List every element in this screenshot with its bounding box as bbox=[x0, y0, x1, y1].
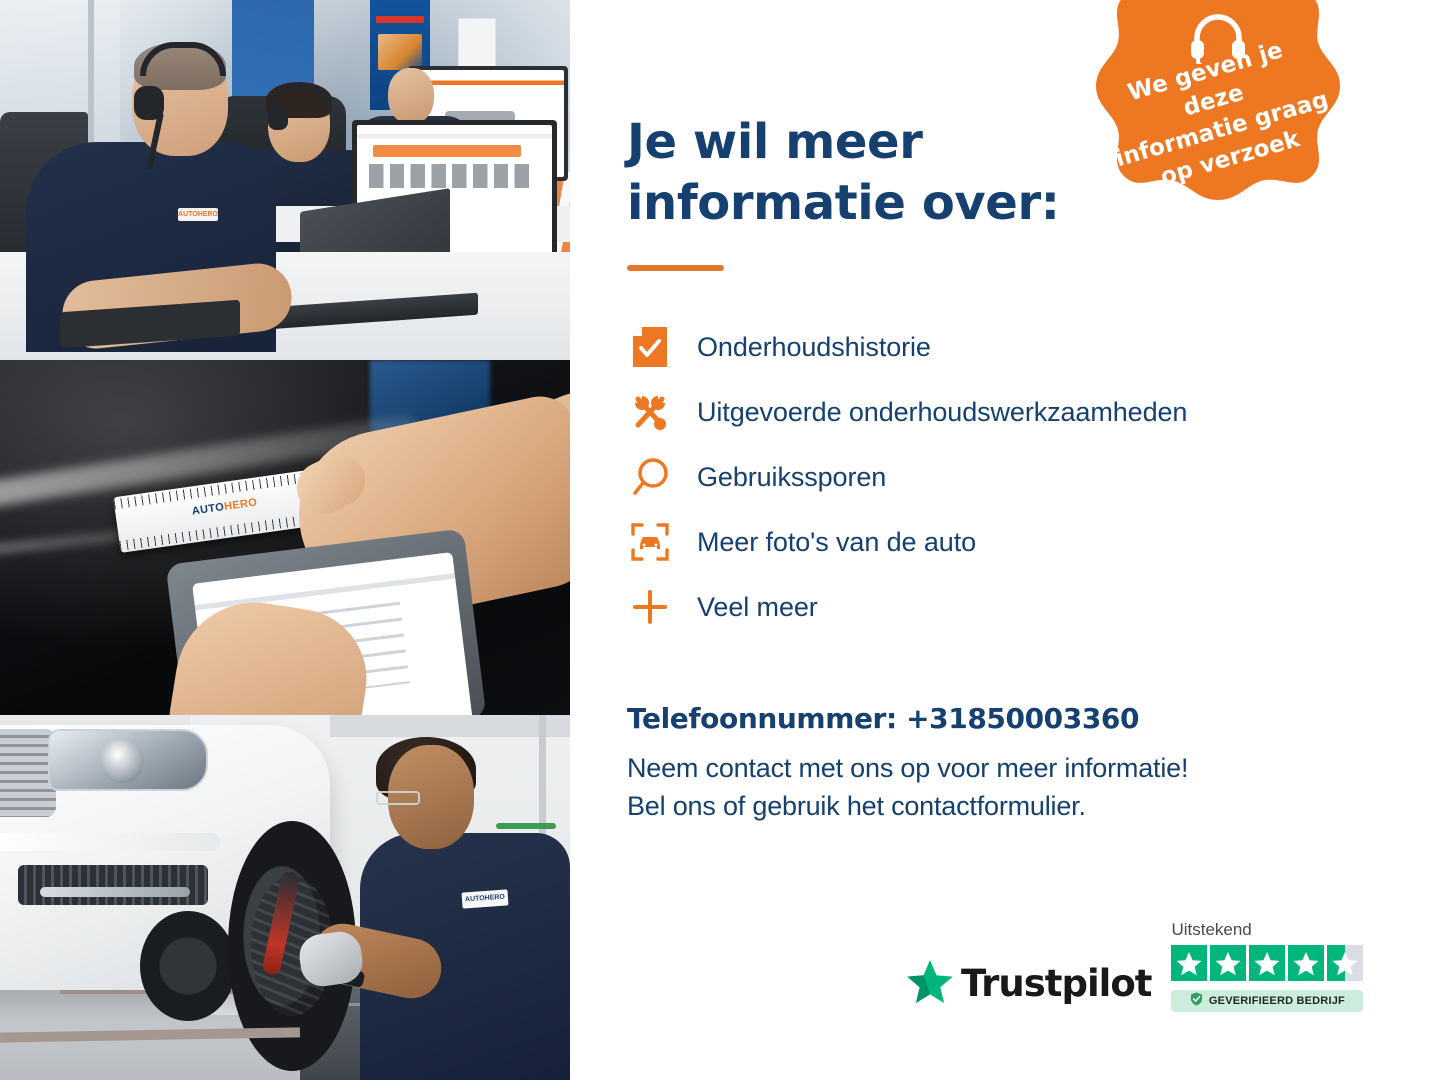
star-filled bbox=[1288, 945, 1324, 981]
feature-item-meer-fotos: Meer foto's van de auto bbox=[627, 510, 1440, 575]
wrench-screwdriver-icon bbox=[627, 389, 673, 435]
star-filled bbox=[1171, 945, 1207, 981]
star-filled bbox=[1249, 945, 1285, 981]
feature-label: Uitgevoerde onderhoudswerkzaamheden bbox=[697, 397, 1187, 428]
promo-page: AUTOHERO AUTOHERO bbox=[0, 0, 1440, 1080]
feature-item-gebruikssporen: Gebruikssporen bbox=[627, 445, 1440, 510]
verified-company-label: GEVERIFIEERD BEDRIJF bbox=[1209, 995, 1345, 1007]
trustpilot-wordmark: Trustpilot bbox=[961, 962, 1151, 1005]
promo-badge: We geven je deze informatie graag op ver… bbox=[1084, 0, 1352, 220]
feature-label: Onderhoudshistorie bbox=[697, 332, 931, 363]
page-title-line-1: Je wil meer bbox=[627, 114, 922, 170]
feature-item-onderhoudshistorie: Onderhoudshistorie bbox=[627, 315, 1440, 380]
call-center-agents-photo: AUTOHERO bbox=[0, 0, 570, 360]
trustpilot-logo[interactable]: Trustpilot bbox=[907, 959, 1151, 1012]
star-half bbox=[1327, 945, 1363, 981]
trustpilot-stars bbox=[1171, 945, 1363, 981]
content-panel: Je wil meer informatie over: Onderhoudsh… bbox=[570, 0, 1440, 1080]
shield-check-icon bbox=[1190, 992, 1203, 1011]
contact-text-line-1: Neem contact met ons op voor meer inform… bbox=[627, 753, 1188, 783]
feature-item-onderhoudswerkzaamheden: Uitgevoerde onderhoudswerkzaamheden bbox=[627, 380, 1440, 445]
trustpilot-rating-label: Uitstekend bbox=[1171, 920, 1251, 940]
feature-item-veel-meer: Veel meer bbox=[627, 575, 1440, 640]
page-title: Je wil meer informatie over: bbox=[627, 112, 1097, 235]
document-check-icon bbox=[627, 324, 673, 370]
trustpilot-rating-block: Uitstekend bbox=[1171, 920, 1363, 1012]
trustpilot-widget[interactable]: Trustpilot Uitstekend bbox=[907, 920, 1363, 1012]
car-inspection-ruler-photo: AUTOHERO bbox=[0, 360, 570, 715]
contact-text-line-2: Bel ons of gebruik het contactformulier. bbox=[627, 791, 1086, 821]
contact-block: Telefoonnummer: +31850003360 Neem contac… bbox=[627, 702, 1440, 826]
plus-icon bbox=[627, 584, 673, 630]
title-divider bbox=[627, 265, 724, 271]
trustpilot-star-icon bbox=[907, 959, 953, 1008]
autohero-polo-logo: AUTOHERO bbox=[461, 889, 508, 908]
contact-text: Neem contact met ons op voor meer inform… bbox=[627, 749, 1440, 826]
star-filled bbox=[1210, 945, 1246, 981]
magnifier-icon bbox=[627, 454, 673, 500]
verified-company-badge: GEVERIFIEERD BEDRIJF bbox=[1171, 990, 1363, 1012]
autohero-polo-logo: AUTOHERO bbox=[178, 208, 218, 221]
feature-list: Onderhoudshistorie Uitgevoerde onderhoud… bbox=[627, 315, 1440, 640]
page-title-line-2: informatie over: bbox=[627, 175, 1060, 231]
photo-column: AUTOHERO AUTOHERO bbox=[0, 0, 570, 1080]
phone-number[interactable]: Telefoonnummer: +31850003360 bbox=[627, 702, 1440, 735]
feature-label: Veel meer bbox=[697, 592, 818, 623]
feature-label: Meer foto's van de auto bbox=[697, 527, 976, 558]
feature-label: Gebruikssporen bbox=[697, 462, 886, 493]
mechanic-wheel-photo: AUTOHERO bbox=[0, 715, 570, 1080]
car-scan-icon bbox=[627, 519, 673, 565]
